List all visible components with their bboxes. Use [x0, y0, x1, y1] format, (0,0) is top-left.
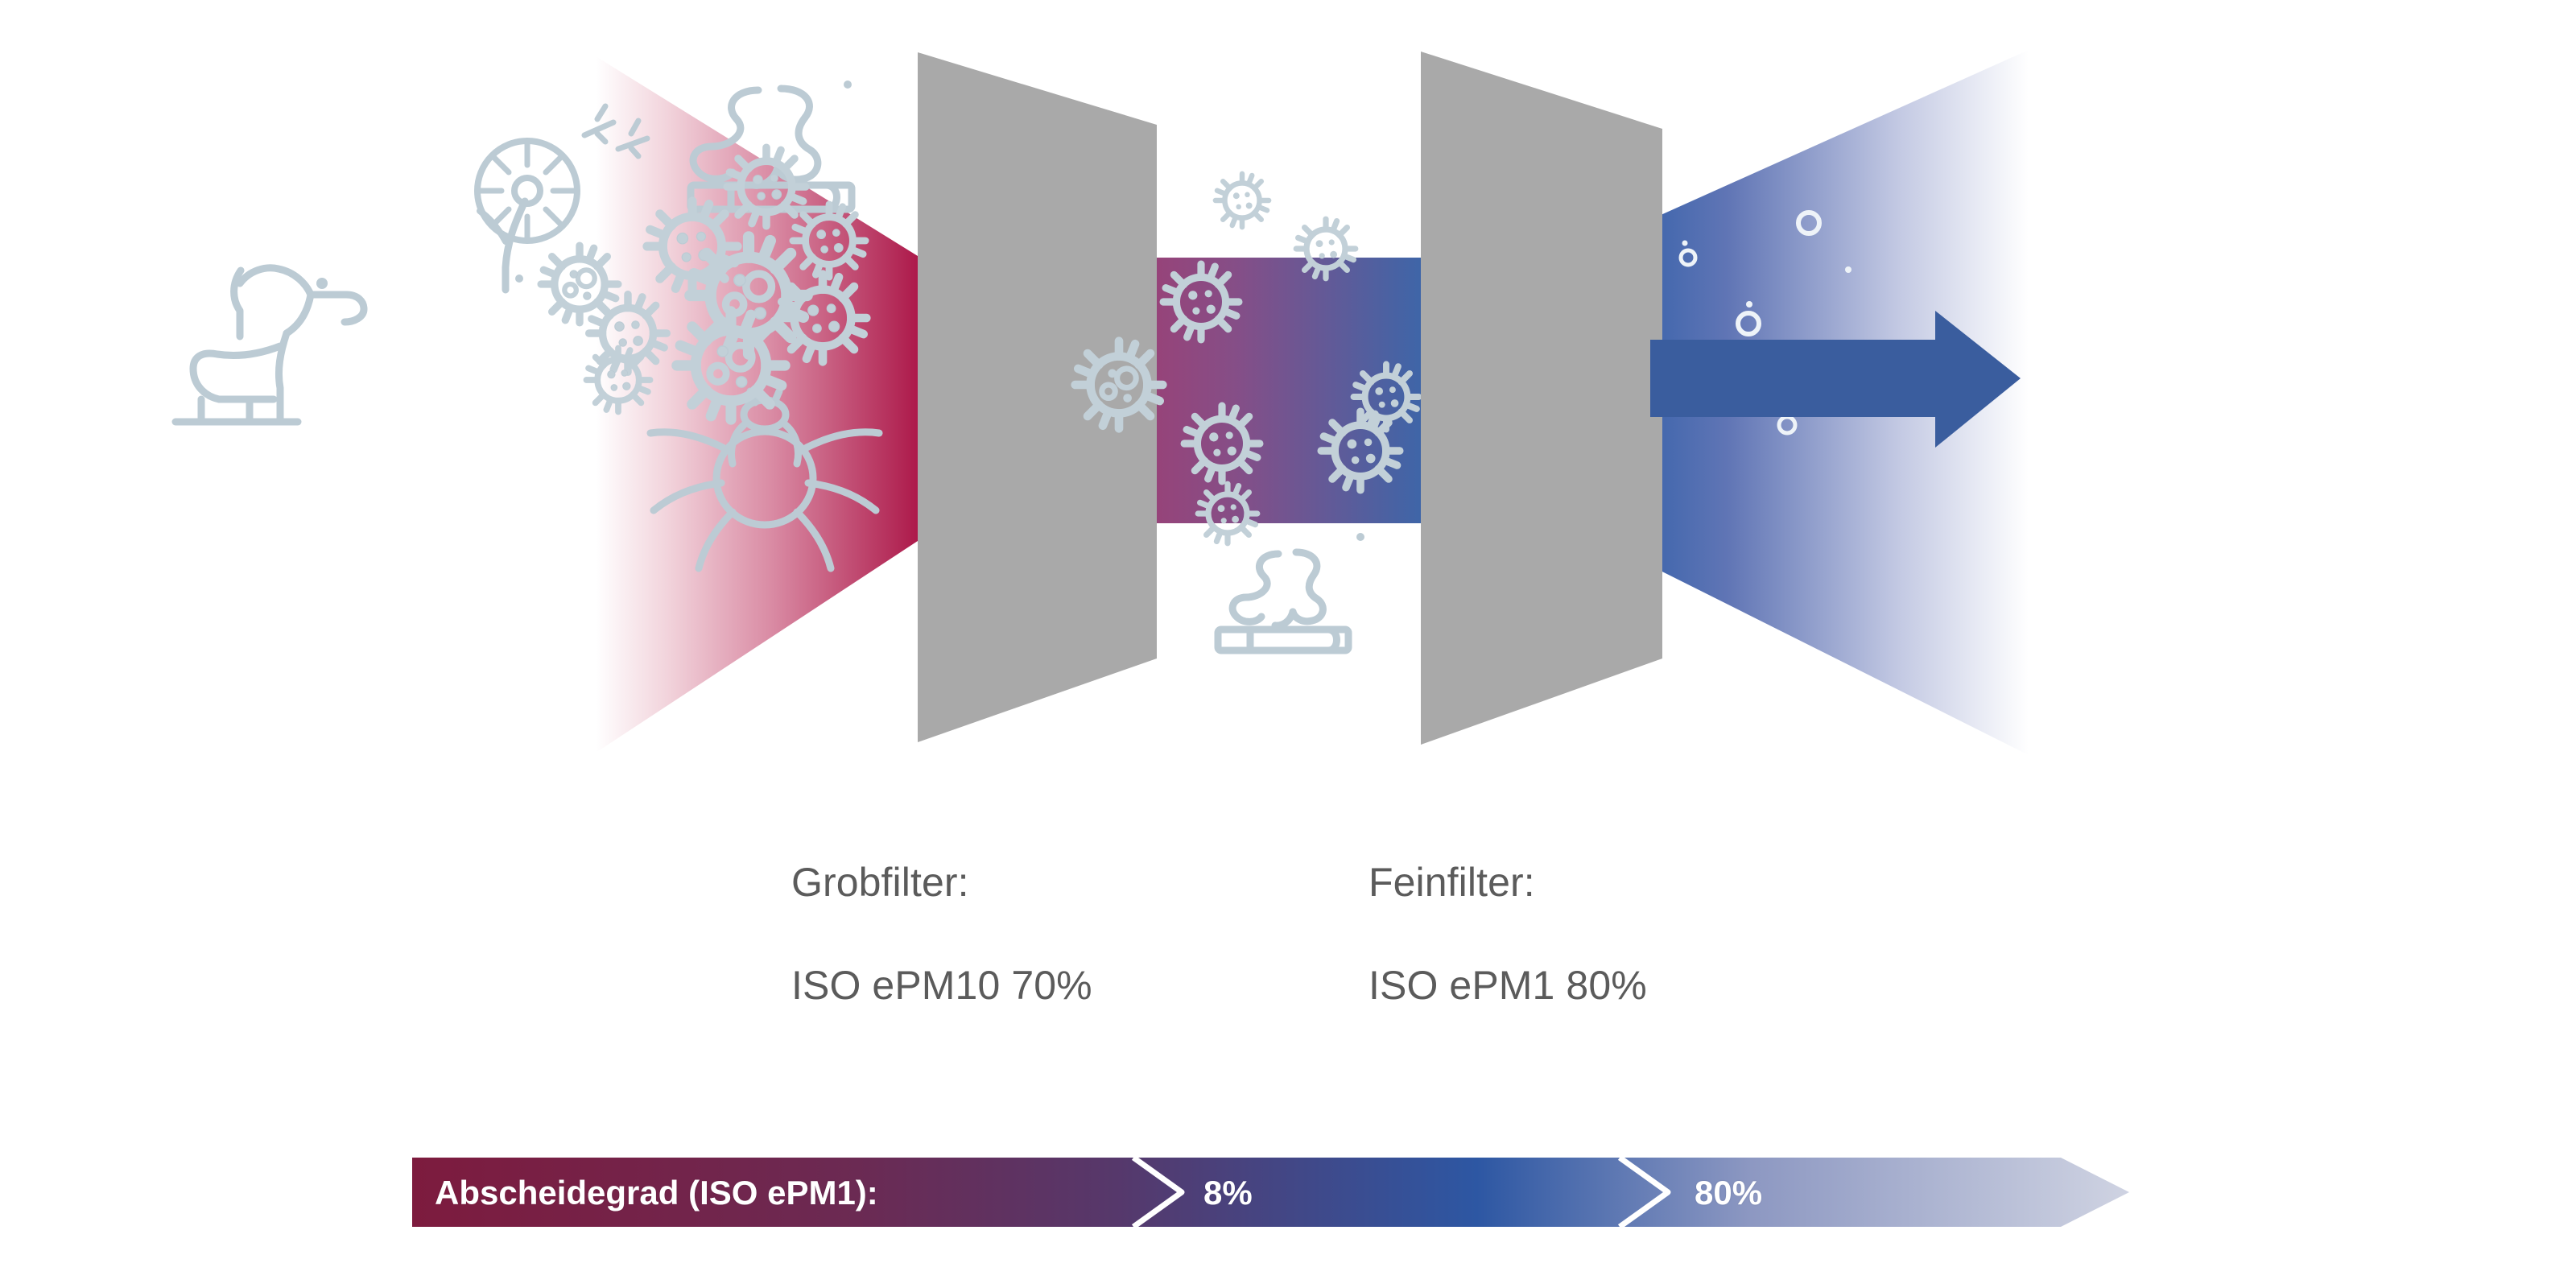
efficiency-legend-bar [0, 0, 2576, 1288]
legend-bar-value-2: 80% [1695, 1174, 1762, 1212]
legend-bar-title: Abscheidegrad (ISO ePM1): [435, 1174, 878, 1212]
legend-bar-value-1: 8% [1203, 1174, 1253, 1212]
air-filtration-diagram: Grobfilter: ISO ePM10 70% Feinfilter: IS… [0, 0, 2576, 1288]
